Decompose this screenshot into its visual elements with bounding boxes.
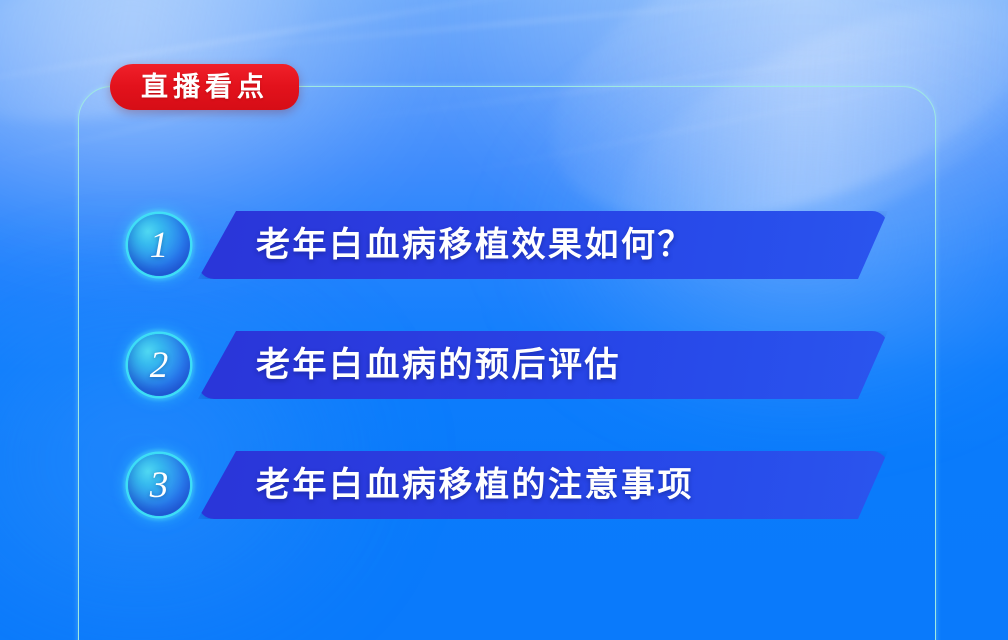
item-number-badge: 1 [128,214,190,276]
item-pill[interactable]: 老年白血病的预后评估 [198,331,888,399]
item-number-label: 2 [150,347,169,384]
list-item[interactable]: 2 老年白血病的预后评估 [128,325,888,405]
item-number-label: 3 [150,467,169,504]
background-streak-3 [332,35,1008,122]
background-streak-2 [151,0,968,56]
poster-canvas: 直播看点 1 老年白血病移植效果如何？ 2 老年白血病的预后评估 3 老年白血病… [0,0,1008,640]
list-item[interactable]: 1 老年白血病移植效果如何？ [128,205,888,285]
item-title-label: 老年白血病移植的注意事项 [256,468,694,502]
item-number-badge: 2 [128,334,190,396]
item-title-label: 老年白血病的预后评估 [256,348,621,382]
section-title-ribbon: 直播看点 [110,64,299,110]
item-pill[interactable]: 老年白血病移植的注意事项 [198,451,888,519]
item-number-badge: 3 [128,454,190,516]
item-pill[interactable]: 老年白血病移植效果如何？ [198,211,888,279]
background-streak-4 [426,61,1008,181]
section-title-label: 直播看点 [136,74,269,101]
list-item[interactable]: 3 老年白血病移植的注意事项 [128,445,888,525]
background-streak-1 [0,0,636,96]
item-title-label: 老年白血病移植效果如何？ [256,228,694,262]
item-number-label: 1 [150,227,169,264]
